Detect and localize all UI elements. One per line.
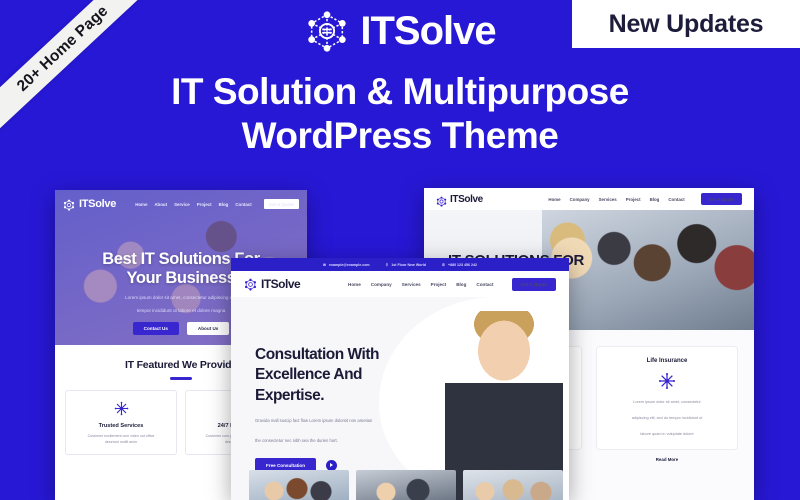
right-card-title: Life Insurance — [607, 358, 727, 364]
left-nav-item-home[interactable]: Home — [135, 202, 147, 207]
center-nav-item-blog[interactable]: Blog — [456, 282, 466, 287]
center-thumbnail[interactable] — [249, 470, 349, 500]
snowflake-burst-icon — [657, 371, 677, 391]
center-nav-items: Home Company Services Project Blog Conta… — [348, 278, 556, 291]
left-nav-item-about[interactable]: About — [154, 202, 167, 207]
right-card-read-more[interactable]: Read More — [656, 457, 678, 462]
left-feature-card[interactable]: Trusted Services Customer excitement cum… — [65, 390, 177, 456]
headline-line-1: IT Solution & Multipurpose — [171, 71, 629, 112]
center-hero: Consultation With Excellence And Experti… — [231, 297, 569, 500]
center-hero-title-line-1: Consultation With — [255, 346, 379, 363]
center-logo-text: ITSolve — [261, 277, 300, 291]
center-hero-desc-1: Gravida mall suscip fact flow Lorem ipsu… — [255, 417, 435, 425]
phone-icon: ✆ — [442, 263, 445, 267]
network-hexagon-icon — [63, 198, 75, 210]
screenshot-stage: ITSolve Home About Service Project Blog … — [0, 178, 800, 500]
center-topbar-email[interactable]: ✉ example@example.com — [323, 263, 370, 267]
right-navbar: ITSolve Home Company Services Project Bl… — [424, 188, 754, 210]
left-navbar: ITSolve Home About Service Project Blog … — [55, 198, 307, 210]
center-nav-item-contact[interactable]: Contact — [476, 282, 493, 287]
center-nav-item-home[interactable]: Home — [348, 282, 361, 287]
left-nav-cta-button[interactable]: Get A Quote — [264, 199, 299, 209]
left-nav-items: Home About Service Project Blog Contact … — [135, 199, 299, 209]
center-nav-item-project[interactable]: Project — [431, 282, 447, 287]
right-nav-item-services[interactable]: Services — [599, 197, 617, 202]
network-hexagon-icon — [304, 8, 350, 54]
map-pin-icon: ⚲ — [386, 263, 389, 267]
center-nav-cta-button[interactable]: Get A Quote — [512, 278, 556, 291]
preview-center[interactable]: ✉ example@example.com ⚲ 1st Floor New Wo… — [231, 258, 569, 500]
right-nav-items: Home Company Services Project Blog Conta… — [548, 193, 742, 205]
left-card-title: Trusted Services — [72, 423, 170, 429]
center-navbar: ITSolve Home Company Services Project Bl… — [231, 271, 569, 297]
center-hero-text: Consultation With Excellence And Experti… — [255, 345, 435, 473]
center-topbar-address-text: 1st Floor New World — [391, 263, 426, 267]
right-nav-item-project[interactable]: Project — [626, 197, 641, 202]
network-hexagon-icon — [436, 194, 447, 205]
right-logo-text: ITSolve — [450, 194, 483, 205]
left-title-underline — [170, 377, 192, 380]
right-nav-cta-button[interactable]: Get A Quote — [701, 193, 742, 205]
center-topbar: ✉ example@example.com ⚲ 1st Floor New Wo… — [231, 258, 569, 271]
right-nav-item-company[interactable]: Company — [570, 197, 590, 202]
center-hero-title-line-3: Expertise. — [255, 387, 324, 404]
left-contact-us-button[interactable]: Contact Us — [133, 322, 179, 335]
left-logo-text: ITSolve — [79, 198, 116, 210]
center-nav-item-company[interactable]: Company — [371, 282, 392, 287]
center-nav-item-services[interactable]: Services — [402, 282, 421, 287]
right-service-card[interactable]: Life Insurance Lorem ipsum dolor sit ame… — [596, 346, 738, 450]
network-hexagon-icon — [244, 278, 257, 291]
center-topbar-phone-text: +880 123 456 242 — [448, 263, 477, 267]
right-logo[interactable]: ITSolve — [436, 194, 483, 205]
center-thumbnail[interactable] — [356, 470, 456, 500]
page-title: IT Solution & Multipurpose WordPress The… — [0, 70, 800, 157]
center-logo[interactable]: ITSolve — [244, 277, 300, 291]
envelope-icon: ✉ — [323, 263, 326, 267]
right-nav-item-blog[interactable]: Blog — [650, 197, 660, 202]
left-nav-item-project[interactable]: Project — [197, 202, 212, 207]
left-card-desc-2: deserunt mollit anim — [72, 439, 170, 445]
center-hero-desc-2: the consectetur nec nibh sea the durien … — [255, 437, 435, 445]
right-card-desc-3: labore quam in voluptate dolore — [607, 431, 727, 438]
center-hero-title: Consultation With Excellence And Experti… — [255, 345, 435, 406]
center-topbar-address: ⚲ 1st Floor New World — [386, 263, 426, 267]
new-updates-badge: New Updates — [572, 0, 800, 48]
left-nav-item-contact[interactable]: Contact — [235, 202, 251, 207]
left-nav-item-blog[interactable]: Blog — [219, 202, 229, 207]
center-topbar-email-text: example@example.com — [329, 263, 370, 267]
snowflake-burst-icon — [113, 400, 130, 417]
center-thumbnail-strip — [249, 470, 563, 500]
left-about-us-button[interactable]: About Us — [187, 322, 229, 335]
left-nav-item-service[interactable]: Service — [174, 202, 190, 207]
right-nav-item-contact[interactable]: Contact — [668, 197, 684, 202]
center-topbar-phone[interactable]: ✆ +880 123 456 242 — [442, 263, 477, 267]
right-nav-item-home[interactable]: Home — [548, 197, 560, 202]
left-logo[interactable]: ITSolve — [63, 198, 116, 210]
right-card-desc-2: adipiscing elit, sed do tempor incididun… — [607, 415, 727, 422]
center-hero-title-line-2: Excellence And — [255, 366, 362, 383]
left-hero-title-line-2: Your Business — [126, 269, 235, 287]
brand-name: ITSolve — [360, 9, 495, 54]
new-updates-label: New Updates — [609, 10, 764, 39]
right-card-desc-1: Lorem ipsum dolor sit amet, consectetur — [607, 399, 727, 406]
center-thumbnail[interactable] — [463, 470, 563, 500]
headline-line-2: WordPress Theme — [0, 114, 800, 158]
